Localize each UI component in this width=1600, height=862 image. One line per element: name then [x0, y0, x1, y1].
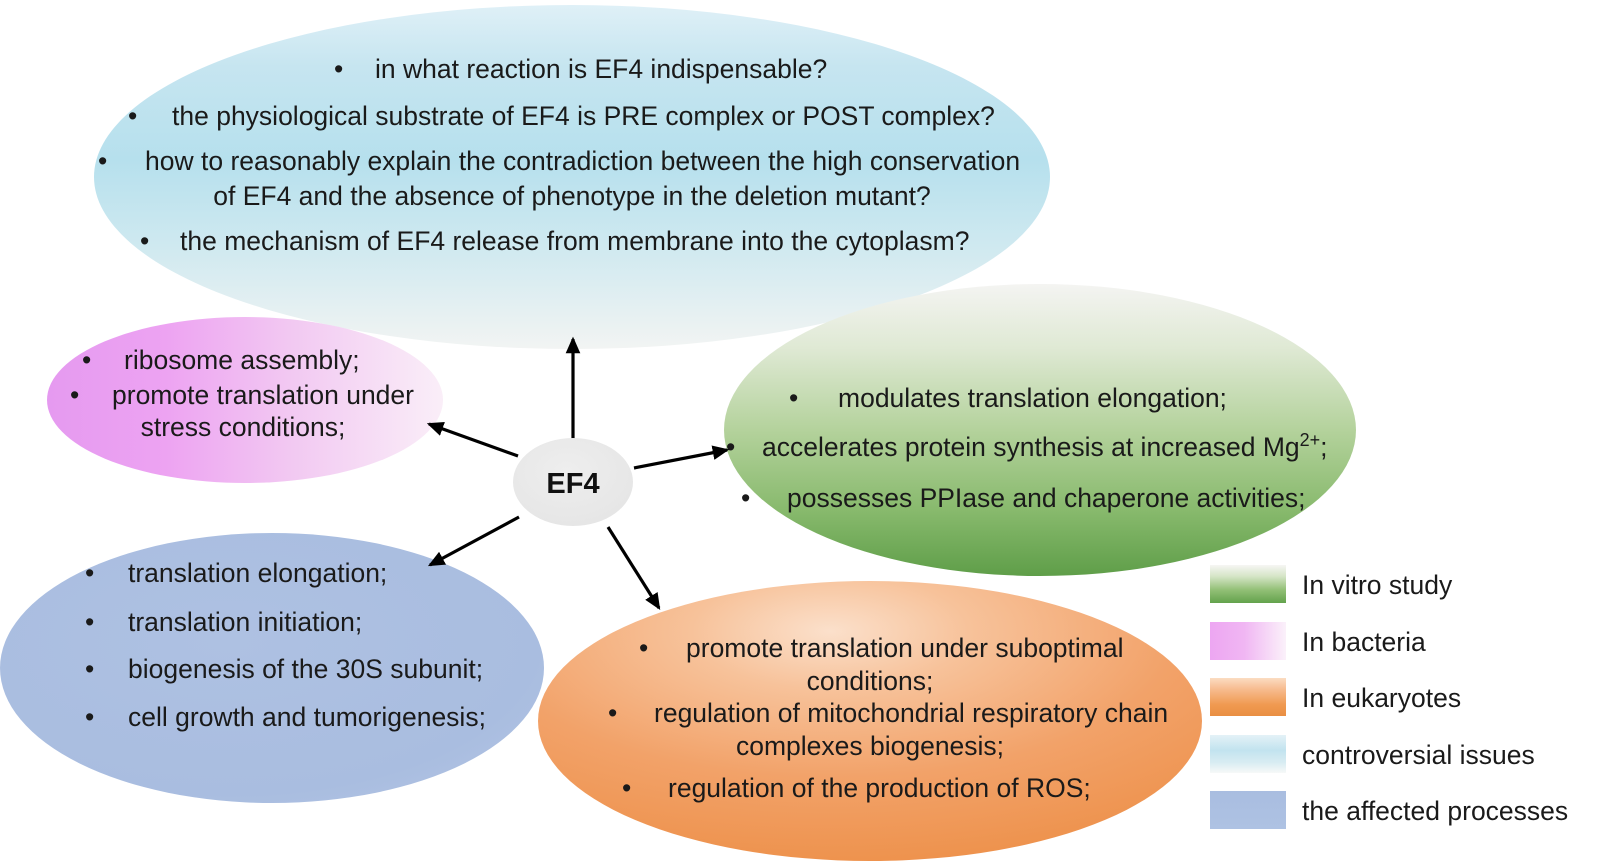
- legend-swatch-bacteria-magenta: [1210, 622, 1286, 660]
- legend-label-controversial-issues: controversial issues: [1302, 740, 1535, 770]
- legend-label-in-eukaryotes: In eukaryotes: [1302, 683, 1461, 713]
- eukaryote-line-1: promote translation under suboptimal: [686, 633, 1124, 663]
- legend-swatch-in-vitro-green: [1210, 565, 1286, 603]
- bullet-marker: •: [85, 607, 94, 637]
- vitro-line-1: modulates translation elongation;: [838, 383, 1227, 413]
- ellipse-controversial-issues[interactable]: • in what reaction is EF4 indispensable?…: [94, 5, 1050, 349]
- bullet-marker: •: [85, 702, 94, 732]
- affected-line-3: biogenesis of the 30S subunit;: [128, 654, 483, 684]
- controversial-line-3: how to reasonably explain the contradict…: [145, 146, 1020, 176]
- legend-label-affected-processes: the affected processes: [1302, 796, 1568, 826]
- bullet-marker: •: [639, 633, 648, 663]
- bacteria-line-1: ribosome assembly;: [124, 345, 360, 375]
- legend-label-in-bacteria: In bacteria: [1302, 627, 1426, 657]
- legend-swatch-affected-blue: [1210, 791, 1286, 829]
- bullet-marker: •: [85, 558, 94, 588]
- legend-label-in-vitro-study: In vitro study: [1302, 570, 1453, 600]
- diagram-canvas: • in what reaction is EF4 indispensable?…: [0, 0, 1600, 862]
- bullet-marker: •: [128, 101, 137, 131]
- affected-line-4: cell growth and tumorigenesis;: [128, 702, 486, 732]
- eukaryote-line-4: complexes biogenesis;: [736, 731, 1004, 761]
- bacteria-line-3: stress conditions;: [141, 412, 346, 442]
- bullet-marker: •: [85, 654, 94, 684]
- bacteria-line-2: promote translation under: [112, 380, 414, 410]
- bullet-marker: •: [70, 380, 79, 410]
- controversial-line-1: in what reaction is EF4 indispensable?: [375, 54, 827, 84]
- controversial-line-2: the physiological substrate of EF4 is PR…: [172, 101, 995, 131]
- ellipse-in-eukaryotes[interactable]: • promote translation under suboptimal c…: [538, 581, 1202, 861]
- legend-item-in-bacteria[interactable]: In bacteria: [1210, 622, 1426, 660]
- bullet-marker: •: [82, 345, 91, 375]
- eukaryote-line-5: regulation of the production of ROS;: [668, 773, 1091, 803]
- diagram-root: • in what reaction is EF4 indispensable?…: [0, 0, 1600, 862]
- ellipse-in-vitro-study[interactable]: • modulates translation elongation; • ac…: [724, 284, 1356, 576]
- arrow-to-eukaryotes[interactable]: [608, 527, 659, 608]
- legend: In vitro study In bacteria In eukaryotes…: [1210, 565, 1568, 829]
- bullet-marker: •: [608, 698, 617, 728]
- in-vitro-shape: [724, 284, 1356, 576]
- arrow-to-vitro[interactable]: [634, 450, 727, 468]
- legend-item-affected-processes[interactable]: the affected processes: [1210, 791, 1568, 829]
- legend-item-in-eukaryotes[interactable]: In eukaryotes: [1210, 678, 1461, 716]
- bullet-marker: •: [789, 383, 798, 413]
- eukaryote-line-2: conditions;: [807, 666, 934, 696]
- vitro-line-2-main: accelerates protein synthesis at increas…: [762, 432, 1300, 462]
- bullet-marker: •: [622, 773, 631, 803]
- center-node-ef4[interactable]: EF4: [513, 438, 633, 526]
- vitro-line-3: possesses PPIase and chaperone activitie…: [787, 483, 1306, 513]
- ef4-node-label: EF4: [546, 468, 599, 500]
- eukaryote-line-3: regulation of mitochondrial respiratory …: [654, 698, 1168, 728]
- controversial-line-5: the mechanism of EF4 release from membra…: [180, 226, 969, 256]
- affected-line-1: translation elongation;: [128, 558, 387, 588]
- ellipse-in-bacteria[interactable]: • ribosome assembly; • promote translati…: [47, 317, 443, 483]
- bullet-marker: •: [140, 226, 149, 256]
- vitro-line-2-superscript: 2+: [1300, 430, 1321, 450]
- legend-swatch-eukaryote-orange: [1210, 678, 1286, 716]
- legend-item-controversial-issues[interactable]: controversial issues: [1210, 735, 1535, 773]
- bullet-marker: •: [741, 483, 750, 513]
- legend-item-in-vitro-study[interactable]: In vitro study: [1210, 565, 1453, 603]
- controversial-line-4: of EF4 and the absence of phenotype in t…: [213, 181, 931, 211]
- vitro-line-2-tail: ;: [1320, 432, 1327, 462]
- arrow-to-bacteria[interactable]: [429, 424, 518, 456]
- bullet-marker: •: [98, 146, 107, 176]
- arrow-to-affected[interactable]: [430, 517, 519, 565]
- ellipse-affected-processes[interactable]: • translation elongation; • translation …: [0, 533, 544, 803]
- legend-swatch-controversial-blue: [1210, 735, 1286, 773]
- bullet-marker: •: [726, 432, 735, 462]
- bullet-marker: •: [334, 54, 343, 84]
- vitro-line-2: accelerates protein synthesis at increas…: [762, 430, 1328, 462]
- affected-line-2: translation initiation;: [128, 607, 362, 637]
